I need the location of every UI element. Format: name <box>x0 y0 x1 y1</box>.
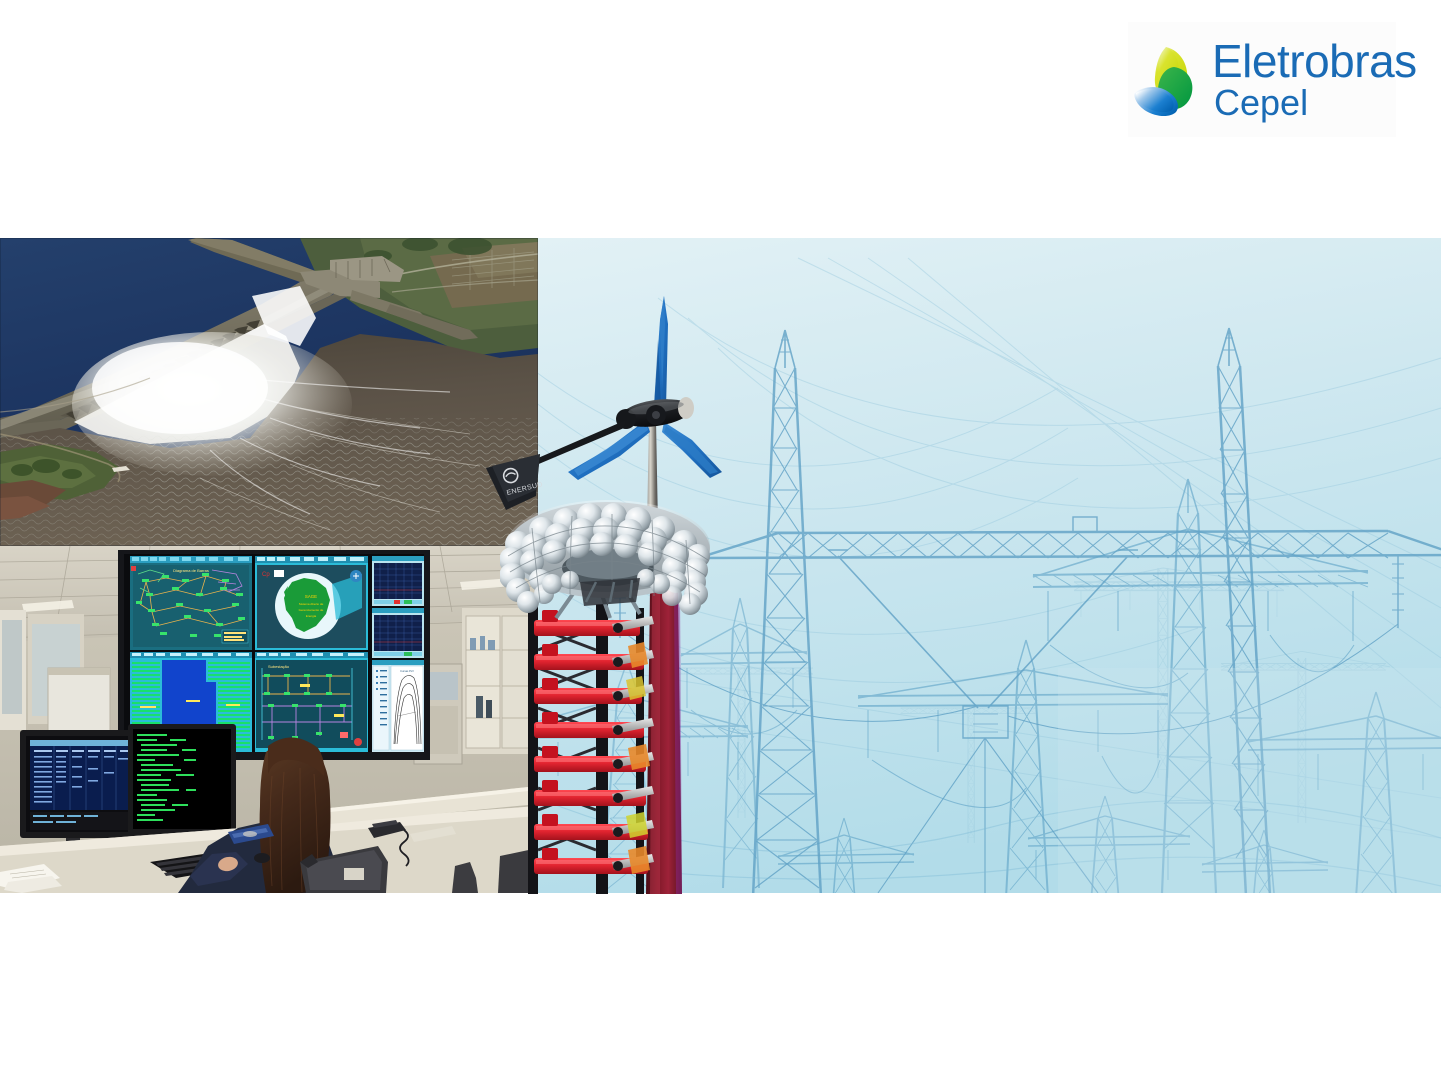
logo-brand-text: Eletrobras <box>1212 38 1417 84</box>
logo-wordmark: Eletrobras Cepel <box>1212 38 1417 121</box>
svg-text:Subestação: Subestação <box>268 664 290 669</box>
transmission-towers-artwork <box>538 238 1441 893</box>
eletrobras-leaf-mark <box>1132 41 1206 119</box>
eletrobras-cepel-logo: Eletrobras Cepel <box>1128 22 1396 137</box>
hydroelectric-dam-photo <box>0 238 538 546</box>
svg-text:Energia: Energia <box>306 614 317 618</box>
control-room-artwork: Diagrama de Barras <box>0 546 538 893</box>
svg-text:SAGE: SAGE <box>305 594 317 599</box>
svg-text:Cp: Cp <box>262 572 270 578</box>
control-room-photo: Diagrama de Barras <box>0 546 538 893</box>
dam-artwork <box>0 238 538 546</box>
svg-text:Diagrama de Barras: Diagrama de Barras <box>173 568 209 573</box>
transmission-towers-background <box>538 238 1441 893</box>
svg-text:Curvas PxV: Curvas PxV <box>400 669 414 673</box>
logo-unit-text: Cepel <box>1214 85 1417 121</box>
slide-canvas: Diagrama de Barras <box>0 0 1441 1080</box>
svg-text:Gerenciamento de: Gerenciamento de <box>299 608 324 612</box>
svg-text:Sistema Aberto de: Sistema Aberto de <box>299 602 324 606</box>
